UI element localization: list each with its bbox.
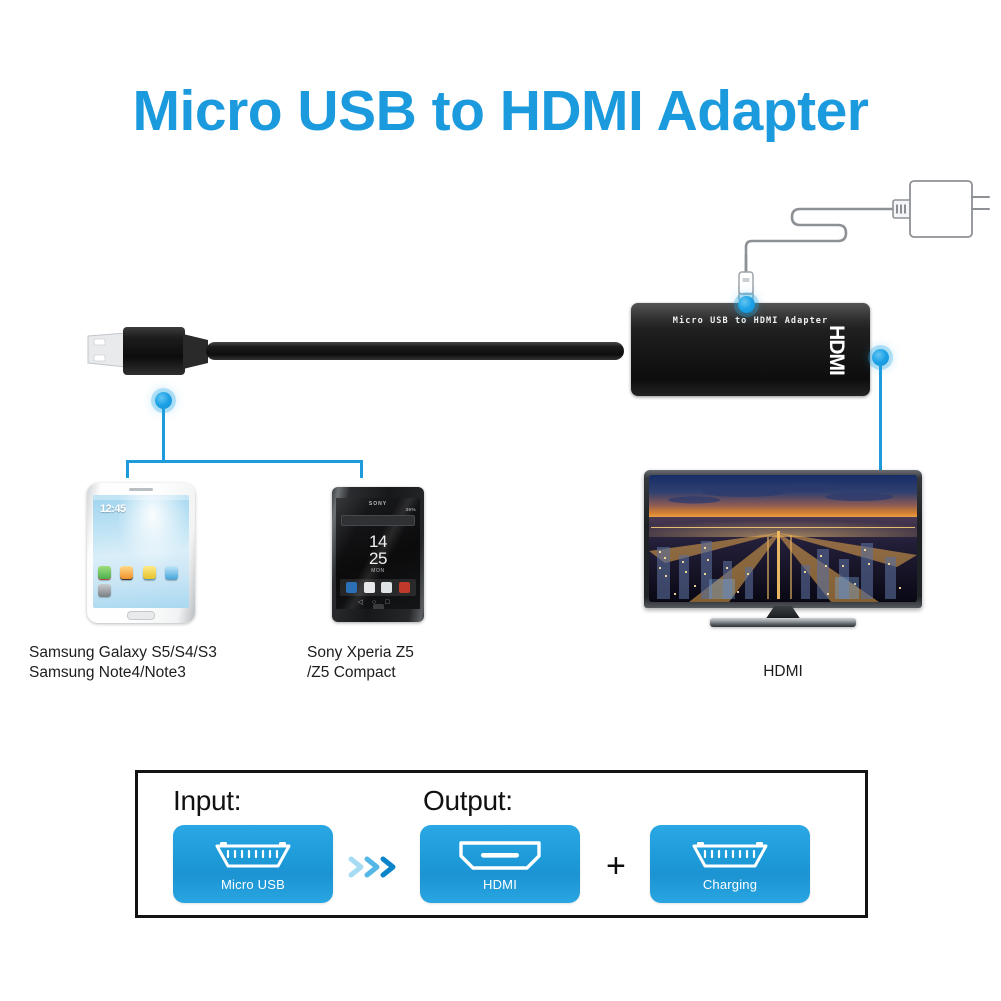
micro-usb-port-icon xyxy=(212,841,294,876)
app-icon xyxy=(364,582,375,593)
chevron-right-triple-icon xyxy=(348,855,404,884)
tv-bezel xyxy=(644,470,922,608)
sony-clock-hour: 14 xyxy=(336,534,420,549)
sony-brand-label: SONY xyxy=(369,501,387,507)
samsung-screen-clock: 12:45 xyxy=(100,503,126,515)
infographic-canvas: Micro USB to HDMI Adapter xyxy=(0,0,1001,1001)
sony-caption: Sony Xperia Z5 /Z5 Compact xyxy=(307,643,537,683)
app-icon xyxy=(165,566,178,579)
marker-line-vertical-left xyxy=(162,409,165,462)
charging-port-marker xyxy=(738,296,755,313)
app-icon xyxy=(120,566,133,579)
sony-search-widget xyxy=(341,515,415,526)
hdmi-adapter-body: Micro USB to HDMI Adapter HDMI xyxy=(631,303,870,396)
app-icon xyxy=(381,582,392,593)
samsung-caption: Samsung Galaxy S5/S4/S3 Samsung Note4/No… xyxy=(29,643,299,683)
micro-usb-port-icon xyxy=(689,841,771,876)
hdmi-tile-label: HDMI xyxy=(420,877,580,892)
app-icon xyxy=(399,582,410,593)
sony-navigation-bar: ◁○□ xyxy=(336,598,420,607)
hdmi-port-icon xyxy=(457,839,543,878)
tv-screen xyxy=(649,475,917,602)
tv-caption: HDMI xyxy=(644,662,922,682)
output-label: Output: xyxy=(423,785,513,817)
samsung-phone-screen: 12:45 xyxy=(93,495,189,608)
hdmi-output-marker xyxy=(872,349,889,366)
tv-stand-base xyxy=(710,618,856,627)
app-icon xyxy=(98,566,111,579)
sony-statusbar: 36% xyxy=(405,507,416,512)
micro-usb-tile-label: Micro USB xyxy=(173,877,333,892)
sony-dock xyxy=(340,579,416,596)
television xyxy=(644,470,922,630)
hdmi-tile[interactable]: HDMI xyxy=(420,825,580,903)
adapter-hdmi-side-label: HDMI xyxy=(824,325,848,375)
micro-usb-tile[interactable]: Micro USB xyxy=(173,825,333,903)
sony-clock-minute: 25 xyxy=(336,551,420,566)
phone-home-button xyxy=(127,611,155,620)
app-icon xyxy=(346,582,357,593)
micro-usb-plug-marker xyxy=(155,392,172,409)
app-icon xyxy=(143,566,156,579)
marker-line-vertical-right xyxy=(879,366,882,472)
sony-clock-date: MON xyxy=(336,568,420,574)
phone-earpiece xyxy=(129,488,153,491)
legend-box: Input: Output: Micro USB xyxy=(135,770,868,918)
sony-xperia-phone: SONY 36% 14 25 MON ◁○□ xyxy=(332,487,424,622)
marker-bracket-horizontal xyxy=(126,460,363,463)
plus-sign: + xyxy=(606,849,626,883)
samsung-dock-row xyxy=(98,566,184,602)
charging-tile-label: Charging xyxy=(650,877,810,892)
phone-statusbar xyxy=(93,495,189,500)
page-title: Micro USB to HDMI Adapter xyxy=(0,78,1001,144)
charging-tile[interactable]: Charging xyxy=(650,825,810,903)
input-label: Input: xyxy=(173,785,241,817)
marker-bracket-tick-left xyxy=(126,460,129,478)
marker-bracket-tick-right xyxy=(360,460,363,478)
sony-phone-screen: SONY 36% 14 25 MON ◁○□ xyxy=(336,498,420,609)
samsung-galaxy-phone: 12:45 xyxy=(87,483,195,623)
app-icon xyxy=(98,584,111,597)
